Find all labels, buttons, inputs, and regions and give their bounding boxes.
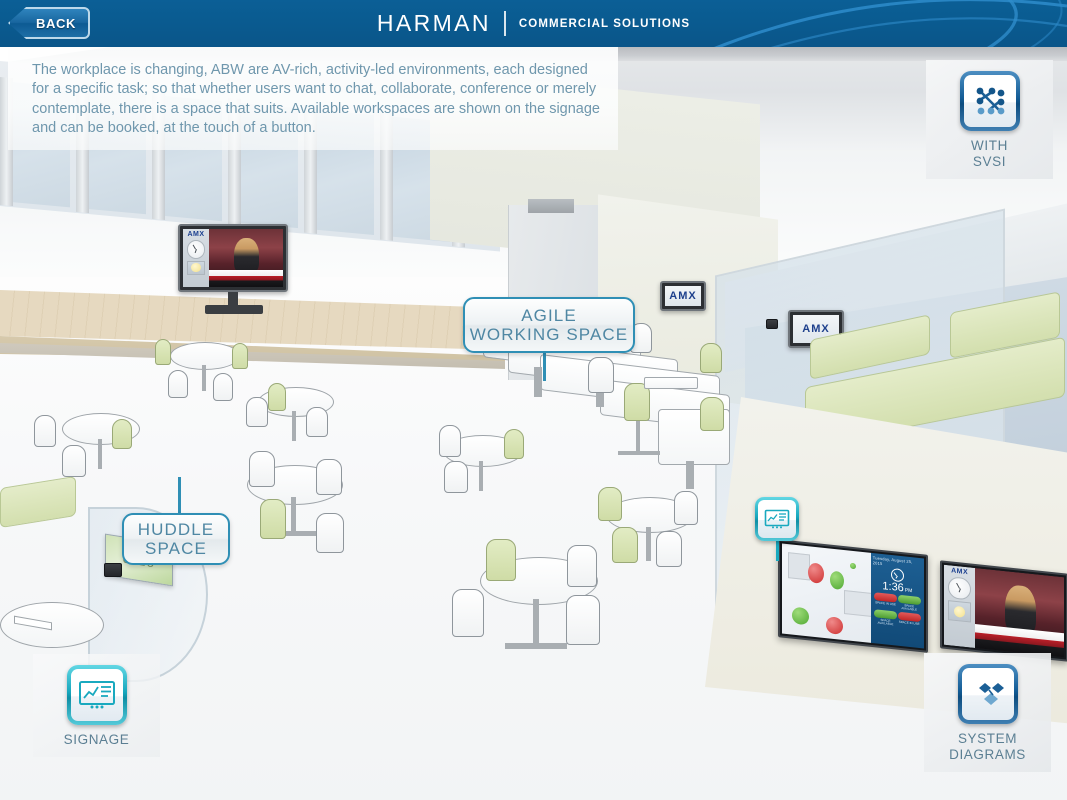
chair — [700, 397, 724, 431]
signage-display-icon — [71, 669, 123, 721]
nav-button-system-diagrams[interactable]: SYSTEM DIAGRAMS — [924, 653, 1051, 772]
system-diagrams-icon-frame — [958, 664, 1018, 724]
svsi-label-line2: SVSI — [971, 154, 1008, 170]
huddle-round-table — [0, 602, 104, 648]
agile-wall-tv[interactable]: AMX — [660, 281, 706, 311]
chair — [34, 415, 56, 447]
diagrams-label-line2: DIAGRAMS — [949, 747, 1026, 763]
map-room — [788, 552, 810, 580]
pillar-vent — [528, 199, 574, 213]
map-status-busy — [826, 616, 843, 635]
chair — [656, 531, 682, 567]
signage-time: 1:36 — [882, 581, 903, 594]
svsi-network-icon — [964, 75, 1016, 127]
weather-widget — [948, 601, 970, 623]
chair — [452, 589, 484, 637]
agile-wall-tv-screen: AMX — [665, 286, 701, 306]
chair — [155, 339, 171, 365]
chair — [700, 343, 722, 373]
hotspot-agile-line2: WORKING SPACE — [470, 325, 629, 344]
map-room — [844, 590, 871, 617]
amx-logo-text: AMX — [669, 290, 696, 302]
brand-divider — [504, 11, 506, 36]
chair — [612, 527, 638, 563]
amx-logo-text: AMX — [951, 567, 968, 576]
amx-logo-text: AMX — [802, 323, 829, 335]
map-status-busy — [808, 562, 824, 584]
wall-control-panel[interactable] — [766, 319, 778, 329]
signage-display-icon — [758, 500, 796, 538]
chair — [232, 343, 248, 369]
chair — [260, 499, 286, 539]
hotspot-huddle-line2: SPACE — [138, 539, 215, 558]
sun-icon — [191, 263, 200, 272]
hotspot-signage-icon[interactable] — [755, 497, 799, 541]
room-booking-signage-screen: Tuesday, August 25, 2015 1:36 PM SPACE I… — [782, 544, 924, 649]
chair — [112, 419, 132, 449]
news-feed — [975, 568, 1064, 657]
chair — [268, 383, 286, 411]
chair — [598, 487, 622, 521]
activity-based-working-page: HARMAN COMMERCIAL SOLUTIONS BACK — [0, 0, 1067, 800]
hotspot-agile-working-space[interactable]: AGILE WORKING SPACE — [463, 297, 635, 353]
hotspot-huddle-line1: HUDDLE — [138, 520, 215, 539]
huddle-control-panel[interactable] — [104, 563, 122, 577]
room-status-label: SPACE AVAILABLE — [874, 618, 897, 627]
room-booking-signage[interactable]: Tuesday, August 25, 2015 1:36 PM SPACE I… — [778, 539, 928, 653]
system-diagrams-glyph — [968, 677, 1008, 711]
page-description: The workplace is changing, ABW are AV-ri… — [32, 61, 600, 138]
signage-display-glyph — [78, 680, 116, 710]
clock-widget — [187, 240, 206, 259]
nav-button-with-svsi-label: WITH SVSI — [971, 138, 1008, 170]
lobby-tv-screen: AMX — [183, 229, 283, 287]
room-status-list: SPACE IN USE SPACE AVAILABLE SPACE AVAIL… — [873, 592, 922, 629]
huddle-hotspot-stem — [178, 477, 181, 517]
app-header: HARMAN COMMERCIAL SOLUTIONS BACK — [0, 0, 1067, 47]
brand-tagline: COMMERCIAL SOLUTIONS — [519, 18, 690, 30]
signage-meridiem: PM — [905, 587, 913, 594]
chair — [306, 407, 328, 437]
brand-name: HARMAN — [377, 10, 491, 37]
news-signage-sidebar: AMX — [944, 565, 975, 648]
back-button[interactable]: BACK — [8, 7, 90, 39]
nav-button-system-diagrams-label: SYSTEM DIAGRAMS — [949, 731, 1026, 763]
signage-hotspot-stem — [776, 539, 779, 561]
chair — [567, 545, 597, 587]
agile-hotspot-stem — [543, 353, 546, 381]
chair — [504, 429, 524, 459]
system-diagrams-icon — [962, 668, 1014, 720]
chair — [213, 373, 233, 401]
floor-plan-map — [782, 544, 871, 643]
hotspot-agile-line1: AGILE — [470, 306, 629, 325]
chair — [316, 459, 342, 495]
desk-divider — [644, 377, 698, 389]
chair — [246, 397, 268, 427]
signage-icon-frame — [67, 665, 127, 725]
header-swoosh-decoration — [667, 0, 1067, 47]
svsi-network-glyph — [970, 81, 1010, 121]
room-booking-sidebar: Tuesday, August 25, 2015 1:36 PM SPACE I… — [871, 553, 924, 649]
brand-lockup: HARMAN COMMERCIAL SOLUTIONS — [0, 0, 1067, 47]
news-feed — [209, 229, 283, 287]
weather-widget — [187, 261, 206, 275]
signage-display-glyph — [764, 509, 790, 529]
chair — [439, 425, 461, 457]
chair — [486, 539, 516, 581]
nav-button-signage-label: SIGNAGE — [64, 732, 130, 748]
svsi-icon-frame — [960, 71, 1020, 131]
news-signage-display[interactable]: AMX — [940, 560, 1067, 661]
news-lower-third — [209, 270, 283, 287]
diagrams-label-line1: SYSTEM — [949, 731, 1026, 747]
chair — [444, 461, 468, 493]
map-status-free — [830, 571, 844, 590]
chair — [566, 595, 600, 645]
amx-logo-text: AMX — [187, 231, 204, 238]
back-button-label: BACK — [8, 7, 90, 39]
lobby-tv-base — [205, 305, 263, 314]
svsi-label-line1: WITH — [971, 138, 1008, 154]
chair — [249, 451, 275, 487]
chair — [316, 513, 344, 553]
lobby-tv-sidebar: AMX — [183, 229, 209, 287]
chair — [674, 491, 698, 525]
lobby-tv[interactable]: AMX — [178, 224, 288, 292]
chair — [168, 370, 188, 398]
chair — [62, 445, 86, 477]
nav-button-signage[interactable]: SIGNAGE — [33, 654, 160, 757]
clock-widget — [948, 576, 970, 601]
hotspot-huddle-space[interactable]: HUDDLE SPACE — [122, 513, 230, 565]
office-scene: AMX AMX — [0, 47, 1067, 800]
nav-button-with-svsi[interactable]: WITH SVSI — [926, 60, 1053, 179]
news-signage-screen: AMX — [944, 565, 1064, 658]
lobby-tv-neck — [228, 292, 238, 306]
map-pin — [850, 563, 856, 570]
chair — [588, 357, 614, 393]
sun-icon — [954, 605, 965, 617]
map-status-free — [792, 607, 809, 626]
signage-label-line1: SIGNAGE — [64, 732, 130, 748]
room-status-label: SPACE IN USE — [898, 620, 921, 629]
